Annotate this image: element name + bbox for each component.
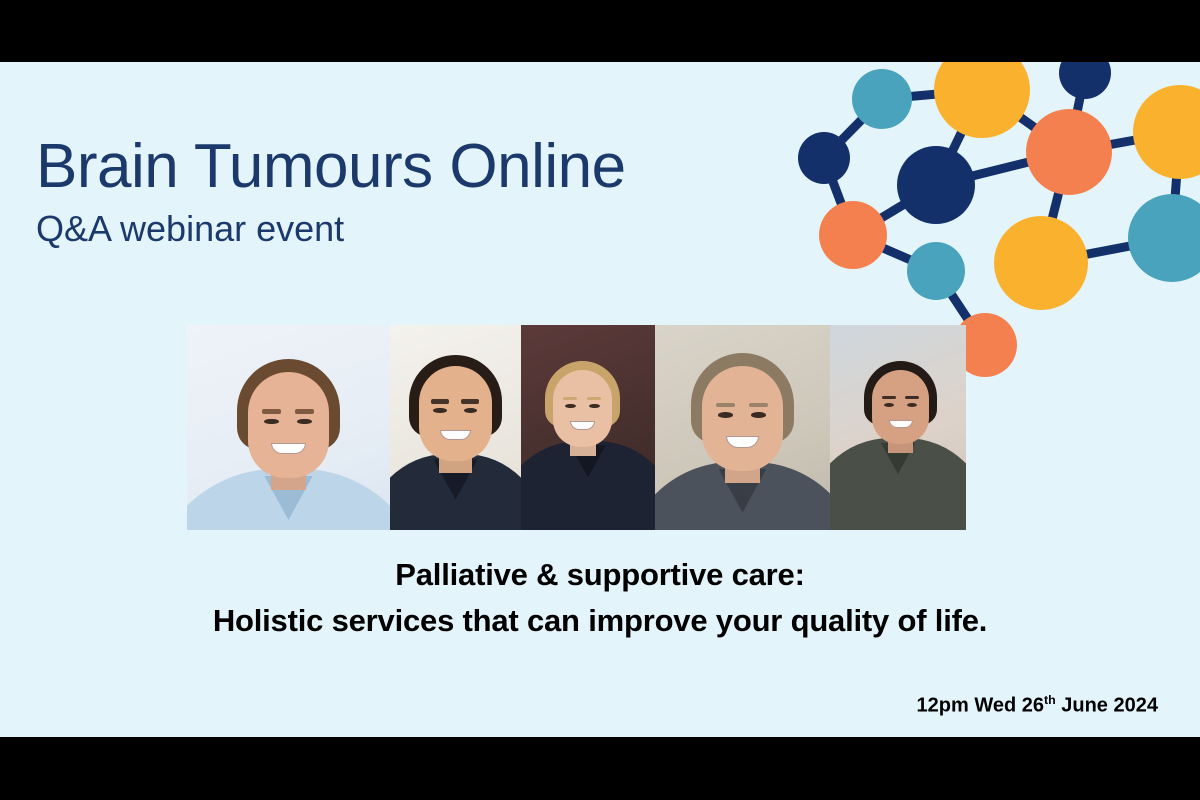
presenter-photo-4: [655, 325, 830, 530]
molecule-node-n9: [907, 242, 965, 300]
photo-face: [248, 372, 329, 478]
event-day: Wed: [974, 695, 1016, 717]
page-subtitle: Q&A webinar event: [36, 209, 626, 249]
talk-title-line-1: Palliative & supportive care:: [0, 552, 1200, 598]
molecule-node-n1: [852, 69, 912, 129]
molecule-node-n4: [1133, 85, 1200, 179]
heading-block: Brain Tumours Online Q&A webinar event: [36, 134, 626, 249]
talk-title: Palliative & supportive care: Holistic s…: [0, 552, 1200, 644]
photo-eyebrow-right: [905, 396, 919, 399]
presenter-photo-strip: [187, 325, 966, 530]
photo-eye-left: [718, 412, 732, 418]
event-year: 2024: [1114, 695, 1159, 717]
photo-eye-left: [565, 404, 576, 408]
photo-mouth: [889, 420, 913, 428]
event-month: June: [1061, 695, 1108, 717]
photo-eye-right: [751, 412, 765, 418]
photo-eyebrow-right: [461, 399, 479, 403]
page-title: Brain Tumours Online: [36, 134, 626, 199]
event-datetime: 12pm Wed 26th June 2024: [917, 693, 1159, 718]
photo-eye-right: [907, 403, 917, 407]
letterbox-bottom-bar: [0, 737, 1200, 800]
molecule-node-n3: [1059, 62, 1111, 99]
presenter-photo-5: [830, 325, 966, 530]
webinar-promo-slide: Brain Tumours Online Q&A webinar event P…: [0, 0, 1200, 800]
photo-eye-left: [433, 408, 446, 413]
photo-eyebrow-left: [563, 397, 577, 400]
talk-title-line-2: Holistic services that can improve your …: [0, 598, 1200, 644]
molecule-node-n8: [819, 201, 887, 269]
presenter-photo-3: [521, 325, 655, 530]
photo-face: [872, 370, 929, 444]
photo-face: [702, 366, 783, 471]
photo-face: [553, 370, 612, 447]
molecule-node-n10: [994, 216, 1088, 310]
photo-eye-left: [884, 403, 894, 407]
photo-eyebrow-left: [882, 396, 896, 399]
slide-canvas: Brain Tumours Online Q&A webinar event P…: [0, 62, 1200, 737]
molecule-node-n6: [897, 146, 975, 224]
photo-eyebrow-left: [262, 409, 281, 414]
photo-eyebrow-right: [749, 403, 768, 408]
event-date-suffix: th: [1044, 693, 1056, 707]
event-date-number: 26: [1022, 695, 1044, 717]
presenter-photo-2: [390, 325, 521, 530]
molecule-node-n7: [1026, 109, 1112, 195]
photo-eyebrow-left: [431, 399, 449, 403]
photo-eyebrow-right: [295, 409, 314, 414]
photo-eye-right: [464, 408, 477, 413]
photo-eyebrow-right: [587, 397, 601, 400]
molecule-node-n5: [798, 132, 850, 184]
letterbox-top-bar: [0, 0, 1200, 62]
molecule-node-n2: [934, 62, 1030, 138]
photo-eye-right: [589, 404, 600, 408]
molecule-node-n11: [1128, 194, 1200, 282]
event-time: 12pm: [917, 695, 969, 717]
presenter-photo-1: [187, 325, 390, 530]
photo-eyebrow-left: [716, 403, 735, 408]
photo-face: [419, 366, 492, 461]
